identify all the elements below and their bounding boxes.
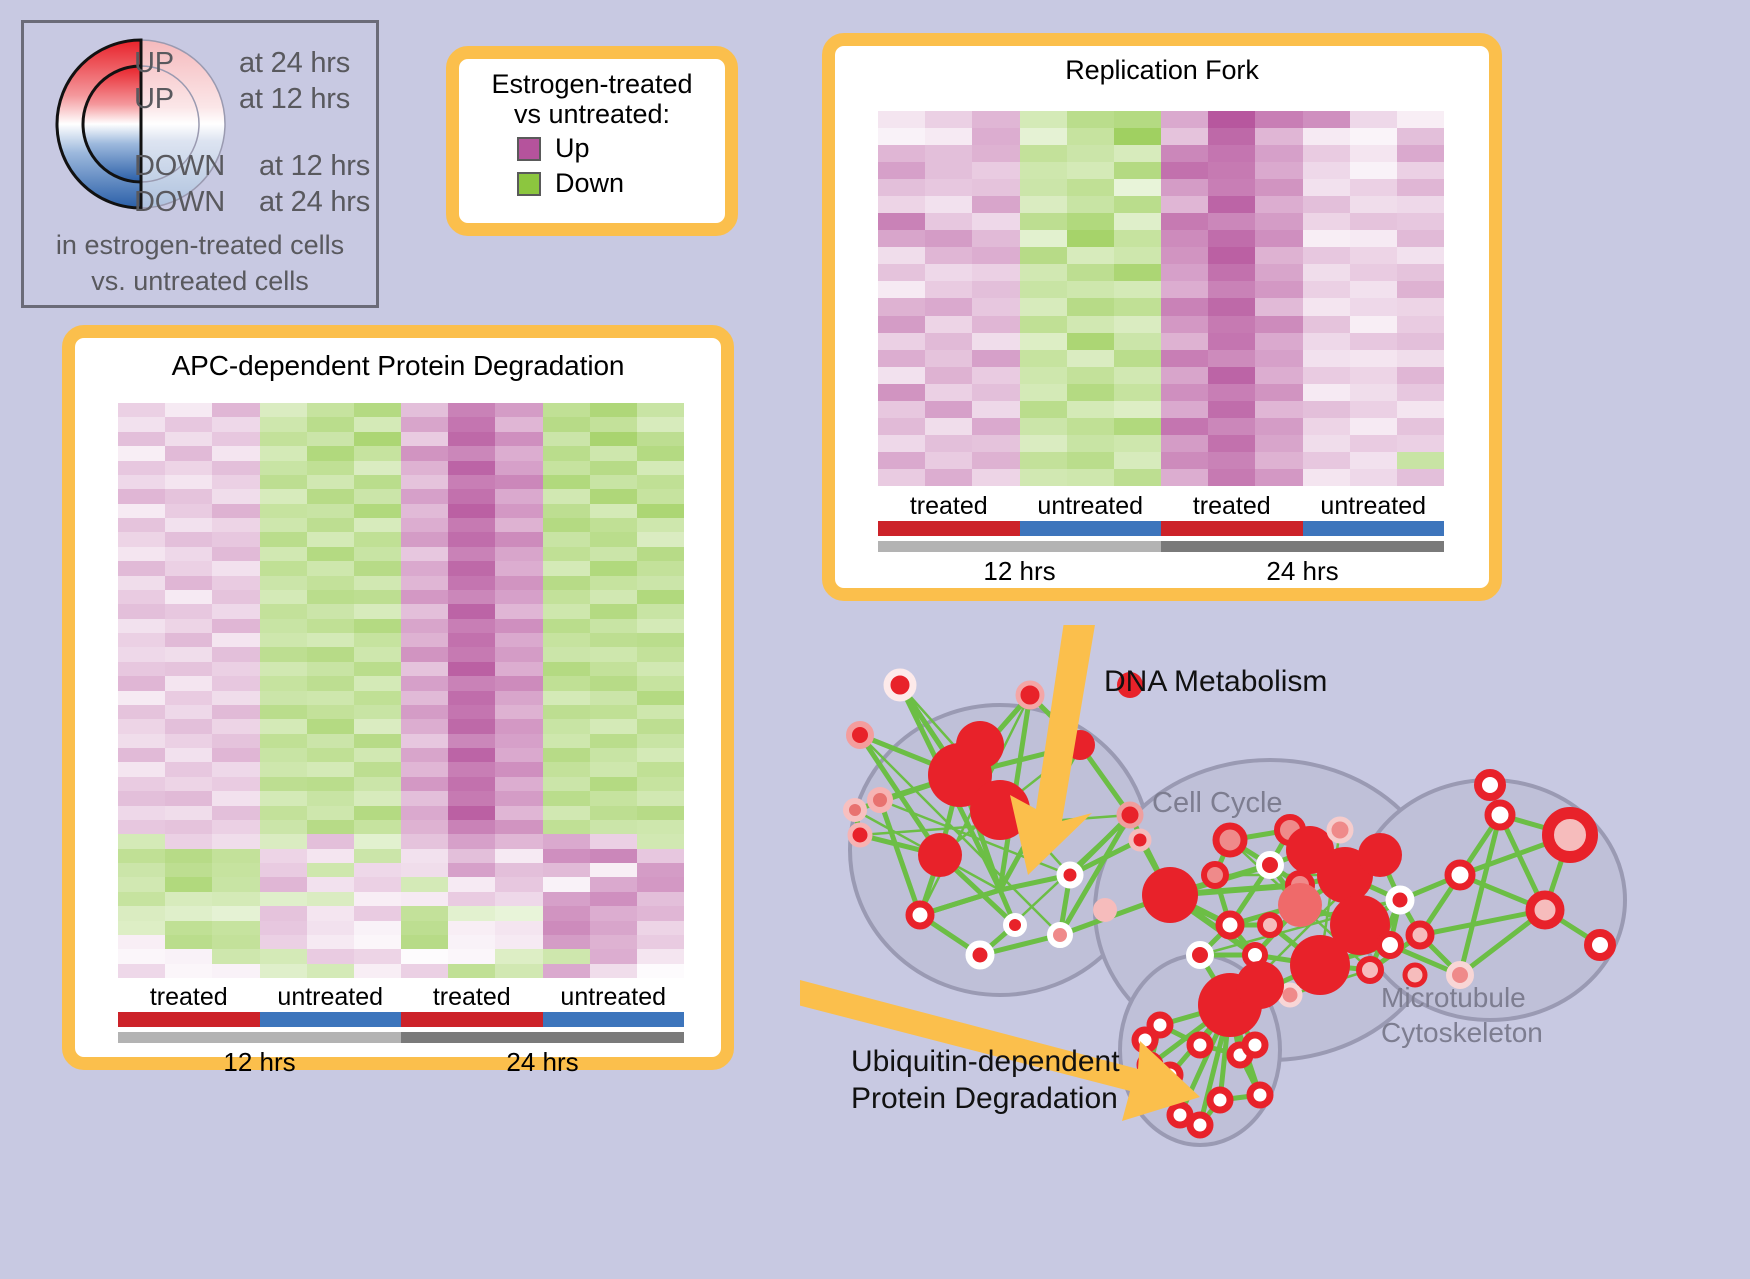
- cluster-label-ubiquitin: Ubiquitin-dependent Protein Degradation: [851, 1044, 1120, 1117]
- heatmap-cell: [448, 762, 495, 776]
- heatmap-cell: [925, 162, 972, 179]
- heatmap-cell: [118, 489, 165, 503]
- heatmap-cell: [1397, 350, 1444, 367]
- heatmap-cell: [212, 446, 259, 460]
- heatmap-cell: [260, 561, 307, 575]
- replication-fork-annotation: treated untreated treated untreated 12 h…: [878, 492, 1444, 587]
- heatmap-cell: [1067, 179, 1114, 196]
- heatmap-cell: [1208, 213, 1255, 230]
- heatmap-cell: [1208, 179, 1255, 196]
- heatmap-cell: [590, 849, 637, 863]
- heatmap-cell: [1161, 452, 1208, 469]
- heatmap-cell: [1397, 145, 1444, 162]
- heatmap-cell: [260, 576, 307, 590]
- heatmap-cell: [260, 791, 307, 805]
- heatmap-cell: [878, 145, 925, 162]
- heatmap-cell: [354, 619, 401, 633]
- heatmap-cell: [118, 949, 165, 963]
- heatmap-cell: [212, 863, 259, 877]
- heatmap-cell: [354, 590, 401, 604]
- heatmap-cell: [495, 647, 542, 661]
- heatmap-cell: [637, 461, 684, 475]
- heatmap-cell: [1350, 469, 1397, 486]
- heatmap-cell: [212, 662, 259, 676]
- heatmap-cell: [1255, 469, 1302, 486]
- time-color-bar: [118, 1032, 684, 1043]
- heatmap-cell: [118, 849, 165, 863]
- heatmap-cell: [307, 834, 354, 848]
- heatmap-cell: [354, 935, 401, 949]
- heatmap-cell: [495, 748, 542, 762]
- heatmap-cell: [1161, 162, 1208, 179]
- heatmap-cell: [1397, 316, 1444, 333]
- heatmap-cell: [118, 964, 165, 978]
- heatmap-cell: [307, 691, 354, 705]
- heatmap-cell: [1255, 401, 1302, 418]
- cluster-label-microtubule-line1: Microtubule: [1381, 980, 1543, 1015]
- heatmap-cell: [543, 849, 590, 863]
- heatmap-cell: [590, 619, 637, 633]
- network-node: [1060, 865, 1080, 885]
- heatmap-cell: [637, 877, 684, 891]
- heatmap-cell: [637, 647, 684, 661]
- heatmap-cell: [401, 777, 448, 791]
- heatmap-cell: [543, 791, 590, 805]
- heatmap-cell: [637, 863, 684, 877]
- heatmap-cell: [307, 461, 354, 475]
- heatmap-cell: [260, 590, 307, 604]
- heatmap-cell: [401, 662, 448, 676]
- heatmap-cell: [165, 820, 212, 834]
- heatmap-cell: [543, 921, 590, 935]
- heatmap-cell: [118, 662, 165, 676]
- heatmap-cell: [637, 532, 684, 546]
- time-label-12hrs: 12 hrs: [118, 1043, 401, 1078]
- heatmap-cell: [637, 446, 684, 460]
- heatmap-cell: [543, 662, 590, 676]
- heatmap-cell: [590, 863, 637, 877]
- heatmap-cell: [1303, 281, 1350, 298]
- heatmap-cell: [637, 417, 684, 431]
- heatmap-cell: [1161, 230, 1208, 247]
- heatmap-cell: [260, 662, 307, 676]
- heatmap-cell: [307, 547, 354, 561]
- apc-degradation-annotation: treated untreated treated untreated 12 h…: [118, 983, 684, 1078]
- network-node: [1290, 935, 1350, 995]
- heatmap-cell: [1020, 128, 1067, 145]
- heatmap-cell: [1255, 452, 1302, 469]
- heatmap-cell: [212, 849, 259, 863]
- heatmap-cell: [307, 863, 354, 877]
- heatmap-cell: [1114, 333, 1161, 350]
- up-swatch-icon: [517, 137, 541, 161]
- heatmap-cell: [354, 691, 401, 705]
- network-node: [1142, 867, 1198, 923]
- heatmap-cell: [1350, 367, 1397, 384]
- heatmap-cell: [1255, 213, 1302, 230]
- heatmap-cell: [165, 489, 212, 503]
- heatmap-cell: [212, 734, 259, 748]
- heatmap-cell: [1350, 111, 1397, 128]
- heatmap-cell: [925, 281, 972, 298]
- heatmap-cell: [1067, 401, 1114, 418]
- heatmap-cell: [495, 633, 542, 647]
- heatmap-cell: [354, 532, 401, 546]
- heatmap-cell: [260, 504, 307, 518]
- heatmap-cell: [1020, 213, 1067, 230]
- heatmap-cell: [354, 762, 401, 776]
- heatmap-cell: [1020, 179, 1067, 196]
- network-node: [1260, 915, 1280, 935]
- heatmap-cell: [1114, 145, 1161, 162]
- heatmap-cell: [495, 504, 542, 518]
- heatmap-cell: [118, 719, 165, 733]
- heatmap-cell: [212, 705, 259, 719]
- heatmap-cell: [637, 964, 684, 978]
- network-node: [1259, 854, 1281, 876]
- heatmap-cell: [495, 935, 542, 949]
- heatmap-cell: [118, 647, 165, 661]
- heatmap-cell: [543, 906, 590, 920]
- heatmap-cell: [637, 547, 684, 561]
- heatmap-cell: [165, 475, 212, 489]
- heatmap-cell: [401, 633, 448, 647]
- cluster-label-ubiquitin-line1: Ubiquitin-dependent: [851, 1044, 1120, 1081]
- network-node: [1250, 1085, 1270, 1105]
- heatmap-cell: [448, 489, 495, 503]
- heatmap-cell: [401, 834, 448, 848]
- heatmap-cell: [354, 849, 401, 863]
- heatmap-cell: [925, 316, 972, 333]
- estrogen-legend-title-line1: Estrogen-treated: [459, 69, 725, 99]
- heatmap-cell: [307, 504, 354, 518]
- heatmap-cell: [590, 834, 637, 848]
- heatmap-cell: [495, 489, 542, 503]
- estrogen-legend-title-line2: vs untreated:: [459, 99, 725, 129]
- network-node: [1588, 933, 1612, 957]
- heatmap-cell: [165, 964, 212, 978]
- heatmap-cell: [212, 417, 259, 431]
- heatmap-cell: [118, 576, 165, 590]
- group-label-0: treated: [878, 492, 1020, 521]
- heatmap-cell: [401, 561, 448, 575]
- heatmap-cell: [212, 719, 259, 733]
- heatmap-cell: [260, 820, 307, 834]
- heatmap-cell: [1397, 333, 1444, 350]
- heatmap-cell: [543, 935, 590, 949]
- heatmap-cell: [590, 446, 637, 460]
- heatmap-cell: [212, 403, 259, 417]
- heatmap-cell: [1067, 435, 1114, 452]
- heatmap-cell: [1255, 247, 1302, 264]
- heatmap-cell: [354, 446, 401, 460]
- heatmap-cell: [1161, 247, 1208, 264]
- heatmap-cell: [925, 179, 972, 196]
- apc-degradation-title: APC-dependent Protein Degradation: [75, 338, 721, 382]
- heatmap-cell: [260, 676, 307, 690]
- heatmap-cell: [212, 877, 259, 891]
- heatmap-cell: [212, 475, 259, 489]
- heatmap-cell: [1208, 350, 1255, 367]
- heatmap-cell: [448, 849, 495, 863]
- heatmap-cell: [354, 863, 401, 877]
- heatmap-cell: [260, 532, 307, 546]
- heatmap-cell: [543, 489, 590, 503]
- heatmap-cell: [165, 504, 212, 518]
- heatmap-cell: [401, 949, 448, 963]
- heatmap-cell: [1303, 469, 1350, 486]
- heatmap-cell: [590, 676, 637, 690]
- heatmap-cell: [590, 806, 637, 820]
- heatmap-cell: [307, 647, 354, 661]
- heatmap-cell: [637, 691, 684, 705]
- heatmap-cell: [1020, 452, 1067, 469]
- heatmap-cell: [354, 892, 401, 906]
- heatmap-cell: [1161, 298, 1208, 315]
- heatmap-cell: [401, 806, 448, 820]
- heatmap-cell: [972, 316, 1019, 333]
- heatmap-cell: [1161, 213, 1208, 230]
- heatmap-cell: [212, 504, 259, 518]
- heatmap-cell: [543, 691, 590, 705]
- network-node: [1236, 961, 1284, 1009]
- heatmap-cell: [448, 417, 495, 431]
- heatmap-cell: [354, 417, 401, 431]
- heatmap-cell: [448, 791, 495, 805]
- group-color-bar: [878, 521, 1444, 536]
- heatmap-cell: [1255, 367, 1302, 384]
- heatmap-cell: [590, 762, 637, 776]
- heatmap-cell: [1255, 418, 1302, 435]
- heatmap-cell: [972, 418, 1019, 435]
- heatmap-cell: [307, 432, 354, 446]
- heatmap-cell: [401, 734, 448, 748]
- heatmap-cell: [878, 179, 925, 196]
- heatmap-cell: [543, 719, 590, 733]
- network-node: [918, 833, 962, 877]
- network-node: [870, 790, 890, 810]
- heatmap-cell: [165, 777, 212, 791]
- heatmap-cell: [637, 719, 684, 733]
- time-bar-12hrs: [118, 1032, 401, 1043]
- heatmap-cell: [260, 892, 307, 906]
- heatmap-cell: [972, 435, 1019, 452]
- heatmap-cell: [212, 461, 259, 475]
- heatmap-cell: [118, 877, 165, 891]
- heatmap-cell: [637, 619, 684, 633]
- heatmap-cell: [260, 949, 307, 963]
- group-bar-treated-24: [401, 1012, 543, 1027]
- heatmap-cell: [637, 518, 684, 532]
- heatmap-cell: [1114, 196, 1161, 213]
- heatmap-cell: [495, 863, 542, 877]
- heatmap-cell: [1208, 128, 1255, 145]
- heatmap-cell: [212, 532, 259, 546]
- heatmap-cell: [401, 432, 448, 446]
- heatmap-cell: [212, 964, 259, 978]
- heatmap-cell: [1303, 316, 1350, 333]
- heatmap-cell: [878, 230, 925, 247]
- heatmap-cell: [1208, 452, 1255, 469]
- heatmap-cell: [354, 820, 401, 834]
- heatmap-cell: [118, 461, 165, 475]
- heatmap-cell: [260, 489, 307, 503]
- heatmap-cell: [448, 619, 495, 633]
- heatmap-cell: [972, 264, 1019, 281]
- time-color-bar: [878, 541, 1444, 552]
- network-node: [1006, 916, 1024, 934]
- heatmap-cell: [260, 863, 307, 877]
- heatmap-cell: [1161, 435, 1208, 452]
- heatmap-cell: [165, 432, 212, 446]
- heatmap-cell: [1114, 384, 1161, 401]
- heatmap-cell: [637, 820, 684, 834]
- heatmap-cell: [543, 590, 590, 604]
- heatmap-cell: [495, 964, 542, 978]
- heatmap-cell: [1020, 230, 1067, 247]
- cluster-label-dna-metabolism: DNA Metabolism: [1104, 665, 1327, 699]
- heatmap-cell: [448, 504, 495, 518]
- heatmap-cell: [401, 547, 448, 561]
- heatmap-cell: [212, 820, 259, 834]
- heatmap-cell: [354, 662, 401, 676]
- network-node: [909, 904, 931, 926]
- heatmap-cell: [637, 662, 684, 676]
- heatmap-cell: [1350, 281, 1397, 298]
- heatmap-cell: [401, 619, 448, 633]
- heatmap-cell: [448, 633, 495, 647]
- heatmap-cell: [165, 806, 212, 820]
- heatmap-cell: [307, 921, 354, 935]
- heatmap-cell: [354, 475, 401, 489]
- heatmap-cell: [212, 935, 259, 949]
- heatmap-cell: [212, 576, 259, 590]
- apc-degradation-panel: APC-dependent Protein Degradation treate…: [62, 325, 734, 1070]
- heatmap-cell: [307, 705, 354, 719]
- heatmap-cell: [401, 691, 448, 705]
- heatmap-cell: [1350, 350, 1397, 367]
- time-bar-12hrs: [878, 541, 1161, 552]
- heatmap-cell: [118, 691, 165, 705]
- heatmap-cell: [1161, 350, 1208, 367]
- heatmap-cell: [448, 806, 495, 820]
- heatmap-cell: [637, 777, 684, 791]
- heatmap-cell: [543, 748, 590, 762]
- heatmap-cell: [1397, 196, 1444, 213]
- heatmap-cell: [118, 791, 165, 805]
- heatmap-cell: [118, 633, 165, 647]
- heatmap-cell: [307, 633, 354, 647]
- heatmap-cell: [1114, 298, 1161, 315]
- heatmap-cell: [165, 662, 212, 676]
- heatmap-cell: [1114, 128, 1161, 145]
- heatmap-cell: [401, 647, 448, 661]
- network-node: [1329, 819, 1351, 841]
- heatmap-cell: [165, 906, 212, 920]
- network-node: [1050, 925, 1070, 945]
- cluster-label-microtubule: Microtubule Cytoskeleton: [1381, 980, 1543, 1050]
- heatmap-cell: [212, 561, 259, 575]
- heatmap-cell: [925, 333, 972, 350]
- heatmap-cell: [495, 461, 542, 475]
- network-node: [956, 721, 1004, 769]
- heatmap-cell: [354, 777, 401, 791]
- heatmap-cell: [165, 705, 212, 719]
- down-swatch-icon: [517, 172, 541, 196]
- heatmap-cell: [495, 446, 542, 460]
- heatmap-cell: [1303, 179, 1350, 196]
- heatmap-cell: [118, 475, 165, 489]
- heatmap-cell: [972, 247, 1019, 264]
- heatmap-cell: [260, 475, 307, 489]
- heatmap-cell: [1020, 196, 1067, 213]
- heatmap-cell: [260, 432, 307, 446]
- heatmap-cell: [401, 403, 448, 417]
- heatmap-cell: [637, 849, 684, 863]
- heatmap-cell: [543, 432, 590, 446]
- heatmap-cell: [1303, 247, 1350, 264]
- heatmap-cell: [401, 604, 448, 618]
- heatmap-cell: [165, 863, 212, 877]
- heatmap-cell: [307, 949, 354, 963]
- heatmap-cell: [212, 432, 259, 446]
- heatmap-cell: [1397, 298, 1444, 315]
- heatmap-cell: [1303, 333, 1350, 350]
- heatmap-cell: [401, 863, 448, 877]
- heatmap-cell: [543, 576, 590, 590]
- heatmap-cell: [1255, 281, 1302, 298]
- heatmap-cell: [543, 734, 590, 748]
- network-node: [1548, 813, 1592, 857]
- network-node: [1488, 803, 1512, 827]
- heatmap-cell: [401, 964, 448, 978]
- heatmap-cell: [1020, 247, 1067, 264]
- heatmap-cell: [1208, 418, 1255, 435]
- heatmap-cell: [212, 547, 259, 561]
- heatmap-cell: [307, 906, 354, 920]
- heatmap-cell: [165, 849, 212, 863]
- heatmap-cell: [1114, 469, 1161, 486]
- heatmap-cell: [925, 452, 972, 469]
- heatmap-cell: [637, 762, 684, 776]
- heatmap-cell: [1350, 418, 1397, 435]
- network-node: [1478, 773, 1502, 797]
- heatmap-cell: [212, 906, 259, 920]
- heatmap-cell: [1067, 145, 1114, 162]
- heatmap-cell: [401, 461, 448, 475]
- heatmap-cell: [307, 676, 354, 690]
- network-node: [1219, 914, 1241, 936]
- heatmap-cell: [972, 333, 1019, 350]
- heatmap-cell: [1255, 435, 1302, 452]
- heatmap-cell: [1255, 384, 1302, 401]
- heatmap-cell: [165, 561, 212, 575]
- heatmap-cell: [637, 734, 684, 748]
- heatmap-cell: [354, 432, 401, 446]
- heatmap-cell: [1020, 298, 1067, 315]
- heatmap-cell: [1114, 230, 1161, 247]
- heatmap-cell: [590, 432, 637, 446]
- heatmap-cell: [590, 475, 637, 489]
- heatmap-cell: [1397, 213, 1444, 230]
- heatmap-cell: [354, 518, 401, 532]
- heatmap-cell: [260, 748, 307, 762]
- heatmap-cell: [1114, 316, 1161, 333]
- heatmap-cell: [590, 662, 637, 676]
- heatmap-cell: [495, 949, 542, 963]
- heatmap-cell: [448, 877, 495, 891]
- heatmap-cell: [1067, 213, 1114, 230]
